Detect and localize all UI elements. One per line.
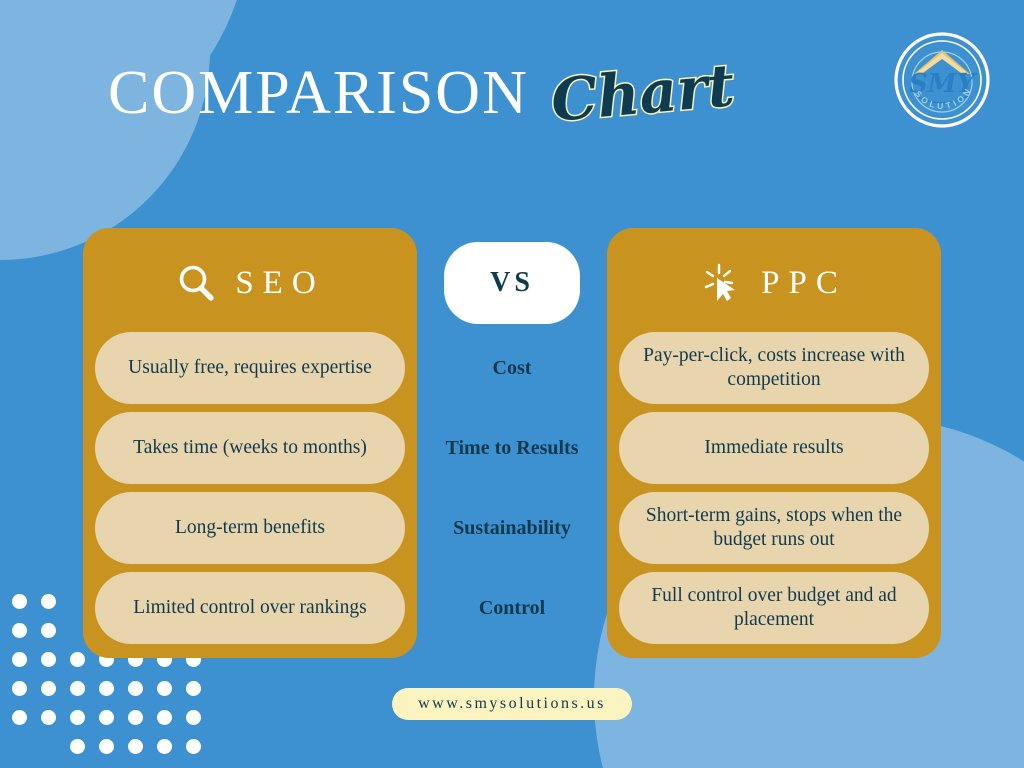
dot (41, 652, 56, 667)
ppc-card-header: PPC (619, 242, 929, 324)
click-cursor-icon (701, 262, 743, 304)
seo-row-4: Limited control over rankings (95, 572, 405, 644)
ppc-row-2-text: Immediate results (704, 436, 843, 460)
ppc-card: PPC Pay-per-click, costs increase with c… (607, 228, 941, 658)
ppc-card-title: PPC (761, 265, 847, 302)
dot (12, 739, 27, 754)
magnifier-icon (175, 262, 217, 304)
ppc-row-4: Full control over budget and ad placemen… (619, 572, 929, 644)
dot (41, 739, 56, 754)
criteria-item-sustainability: Sustainability (417, 492, 607, 564)
ppc-row-4-text: Full control over budget and ad placemen… (635, 584, 913, 633)
seo-row-4-text: Limited control over rankings (133, 596, 366, 620)
dot (12, 652, 27, 667)
seo-row-2: Takes time (weeks to months) (95, 412, 405, 484)
dot-row (12, 739, 201, 754)
criteria-item-control: Control (417, 572, 607, 644)
website-url-badge[interactable]: www.smysolutions.us (392, 688, 632, 720)
vs-label: VS (490, 267, 534, 299)
smy-solutions-logo: SMY SOLUTIONS (892, 30, 992, 130)
seo-row-3-text: Long-term benefits (175, 516, 325, 540)
seo-card: SEO Usually free, requires expertise Tak… (83, 228, 417, 658)
footer: www.smysolutions.us (0, 688, 1024, 720)
dot (70, 739, 85, 754)
logo-icon: SMY SOLUTIONS (892, 30, 992, 130)
ppc-row-1: Pay-per-click, costs increase with compe… (619, 332, 929, 404)
seo-row-3: Long-term benefits (95, 492, 405, 564)
criteria-label: Cost (493, 357, 532, 380)
criteria-label: Sustainability (453, 517, 571, 540)
dot (128, 739, 143, 754)
ppc-row-3: Short-term gains, stops when the budget … (619, 492, 929, 564)
title-main-text: COMPARISON (108, 62, 529, 124)
header: COMPARISON Chart (0, 0, 1024, 200)
infographic-canvas: COMPARISON Chart SMY SOLUTIONS (0, 0, 1024, 768)
ppc-row-3-text: Short-term gains, stops when the budget … (635, 504, 913, 553)
criteria-column: VS Cost Time to Results Sustainability C… (417, 228, 607, 644)
seo-row-1: Usually free, requires expertise (95, 332, 405, 404)
seo-card-header: SEO (95, 242, 405, 324)
comparison-board: SEO Usually free, requires expertise Tak… (0, 228, 1024, 653)
dot (157, 739, 172, 754)
criteria-label: Control (479, 597, 545, 620)
page-title: COMPARISON Chart (108, 62, 734, 124)
dot (186, 739, 201, 754)
dot (99, 739, 114, 754)
vs-badge: VS (444, 242, 580, 324)
ppc-row-1-text: Pay-per-click, costs increase with compe… (635, 344, 913, 393)
ppc-row-2: Immediate results (619, 412, 929, 484)
seo-row-2-text: Takes time (weeks to months) (133, 436, 367, 460)
website-url-text: www.smysolutions.us (418, 695, 606, 712)
criteria-item-time-to-results: Time to Results (417, 412, 607, 484)
seo-card-title: SEO (235, 265, 324, 302)
criteria-item-cost: Cost (417, 332, 607, 404)
dot (70, 652, 85, 667)
criteria-label: Time to Results (446, 437, 579, 460)
title-script-text: Chart (549, 56, 737, 130)
seo-row-1-text: Usually free, requires expertise (128, 356, 372, 380)
